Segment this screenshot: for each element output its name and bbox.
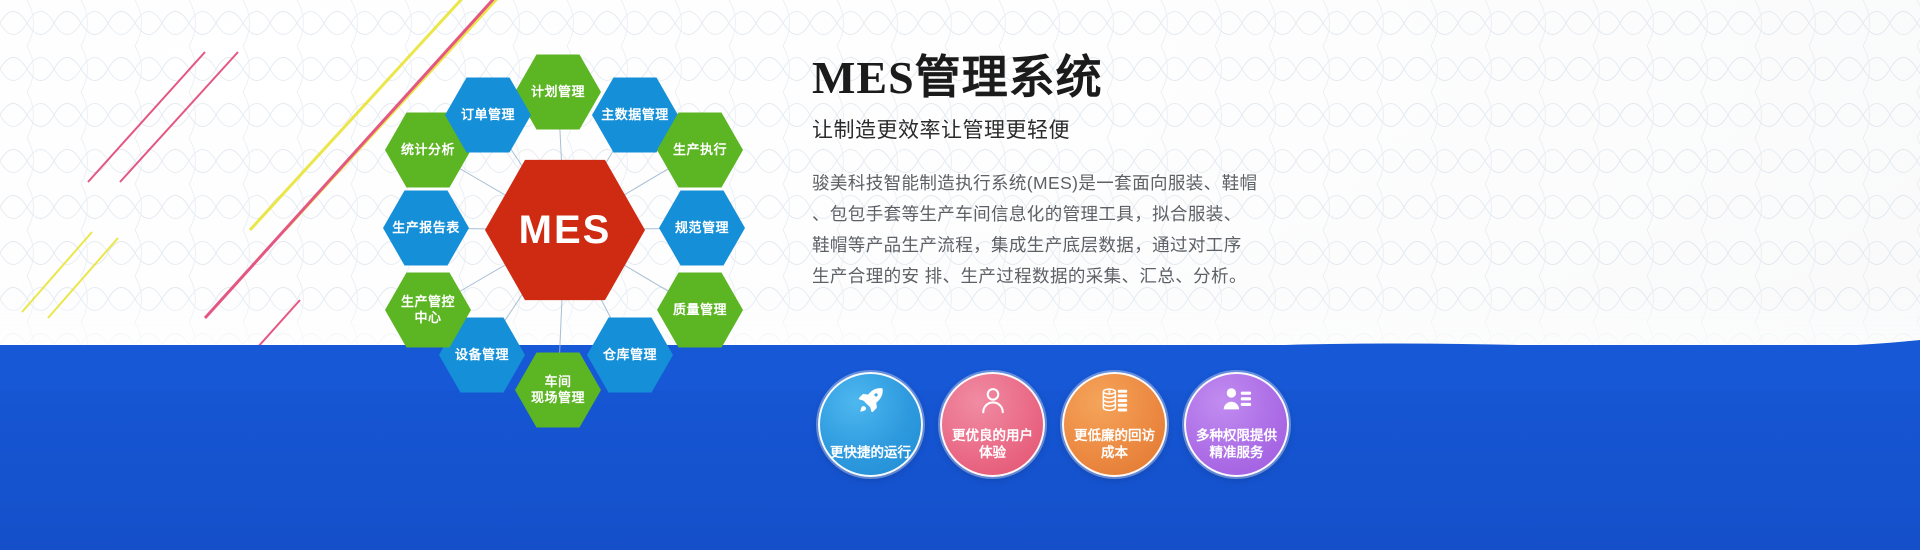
hexagon-node-label: 计划管理 (531, 84, 585, 100)
hero-text-column: MES管理系统 让制造更效率让管理更轻便 骏美科技智能制造执行系统(MES)是一… (812, 52, 1872, 292)
hexagon-node-label: 生产执行 (673, 142, 727, 158)
feature-badge-label: 更低廉的回访成本 (1068, 427, 1161, 462)
hexagon-node-label: 生产管控中心 (401, 294, 455, 327)
hexagon-node-label: 规范管理 (675, 220, 729, 236)
page-title: MES管理系统 (812, 52, 1872, 104)
hexagon-node-label: 订单管理 (461, 107, 515, 123)
feature-badge-label: 更优良的用户体验 (946, 427, 1039, 462)
description-line: 、包包手套等生产车间信息化的管理工具，拟合服装、 (812, 199, 1264, 230)
money-stack-icon: ¥ (1064, 384, 1165, 416)
feature-badge-label: 多种权限提供精准服务 (1190, 427, 1283, 462)
page-subtitle: 让制造更效率让管理更轻便 (812, 114, 1872, 144)
feature-badge-multi-permission[interactable]: 多种权限提供精准服务 (1184, 372, 1289, 477)
description-line: 鞋帽等产品生产流程，集成生产底层数据，通过对工序 (812, 230, 1264, 261)
feature-badge-list: 更快捷的运行 更优良的用户体验 (818, 372, 1289, 477)
user-icon (942, 384, 1043, 416)
description-line: 生产合理的安 排、生产过程数据的采集、汇总、分析。 (812, 261, 1264, 292)
feature-badge-lower-revisit-cost[interactable]: ¥ 更低廉的回访成本 (1062, 372, 1167, 477)
hero-description: 骏美科技智能制造执行系统(MES)是一套面向服装、鞋帽 、包包手套等生产车间信息… (812, 168, 1264, 292)
hexagon-node-label: 车间现场管理 (531, 374, 585, 407)
feature-badge-faster-operation[interactable]: 更快捷的运行 (818, 372, 923, 477)
hexagon-node-label: 设备管理 (455, 347, 509, 363)
rocket-icon (820, 384, 921, 416)
feature-badge-better-user-experience[interactable]: 更优良的用户体验 (940, 372, 1045, 477)
hexagon-node-label: 仓库管理 (603, 347, 657, 363)
hexagon-node-label: 主数据管理 (601, 107, 669, 123)
user-list-icon (1186, 384, 1287, 416)
description-line: 骏美科技智能制造执行系统(MES)是一套面向服装、鞋帽 (812, 168, 1264, 199)
hexagon-node-label: 统计分析 (401, 142, 455, 158)
hexagon-node-label: 质量管理 (673, 302, 727, 318)
svg-text:¥: ¥ (1107, 389, 1110, 395)
feature-badge-label: 更快捷的运行 (824, 444, 917, 462)
hexagon-node-label: 生产报告表 (392, 220, 460, 236)
hero-banner: MES 计划管理 主数据管理 生产执行 规范管理 质量管理 仓库管理 车间现场管… (0, 0, 1920, 550)
hexagon-center-label: MES (519, 205, 612, 255)
mes-hexagon-diagram: MES 计划管理 主数据管理 生产执行 规范管理 质量管理 仓库管理 车间现场管… (330, 20, 800, 440)
